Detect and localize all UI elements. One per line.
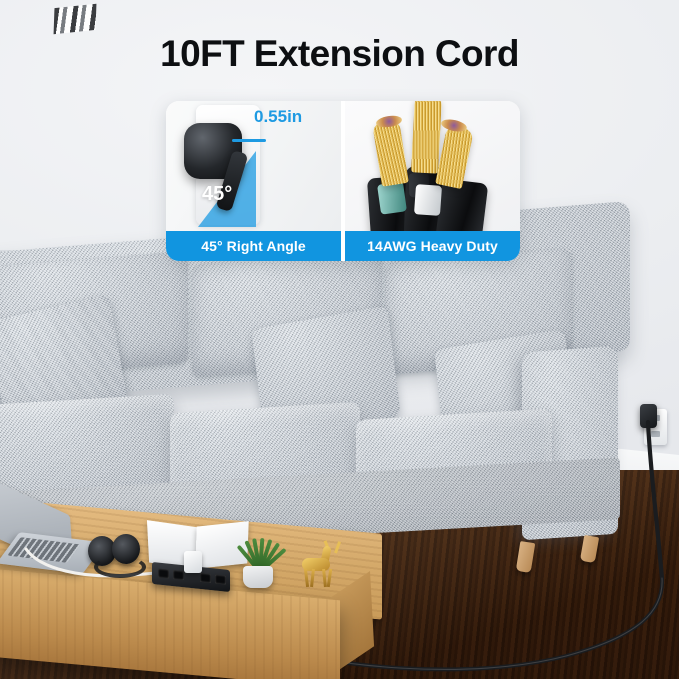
- feature-panel-heavy-duty[interactable]: 14AWG Heavy Duty: [341, 101, 520, 261]
- power-strip-socket: [158, 569, 169, 579]
- deer-figurine: [296, 540, 340, 586]
- feature-panel-right-angle[interactable]: 0.55in 45° 45° Right Angle: [166, 101, 341, 261]
- angle-callout: 45°: [202, 183, 232, 206]
- conductor-insulation-teal: [377, 181, 407, 214]
- deer-leg: [310, 569, 315, 587]
- deer-antler: [334, 541, 341, 553]
- plant-pot: [243, 566, 273, 588]
- feature-card: 0.55in 45° 45° Right Angle 14AWG Heavy D: [166, 101, 520, 261]
- page-title: 10FT Extension Cord: [0, 33, 679, 75]
- dimension-leader-line: [232, 139, 266, 142]
- headphones: [88, 534, 142, 568]
- headphone-headband: [94, 556, 146, 578]
- feature-label-right-angle: 45° Right Angle: [166, 231, 341, 261]
- power-strip-socket: [215, 575, 226, 585]
- deer-leg: [304, 569, 309, 587]
- heavy-duty-illustration: [345, 101, 520, 231]
- power-strip-socket: [173, 570, 184, 580]
- dimension-callout: 0.55in: [254, 107, 302, 127]
- deer-leg: [327, 569, 332, 587]
- magazine-photo: [54, 4, 97, 35]
- feature-label-heavy-duty: 14AWG Heavy Duty: [345, 231, 520, 261]
- right-angle-illustration: 0.55in 45°: [166, 101, 341, 231]
- product-marketing-image: 10FT Extension Cord 0.55in 45° 45° Right…: [0, 0, 679, 679]
- power-adapter: [184, 551, 202, 573]
- power-strip-socket: [200, 573, 211, 583]
- conductor-insulation-white: [414, 184, 442, 216]
- copper-strand-bundle: [411, 101, 442, 174]
